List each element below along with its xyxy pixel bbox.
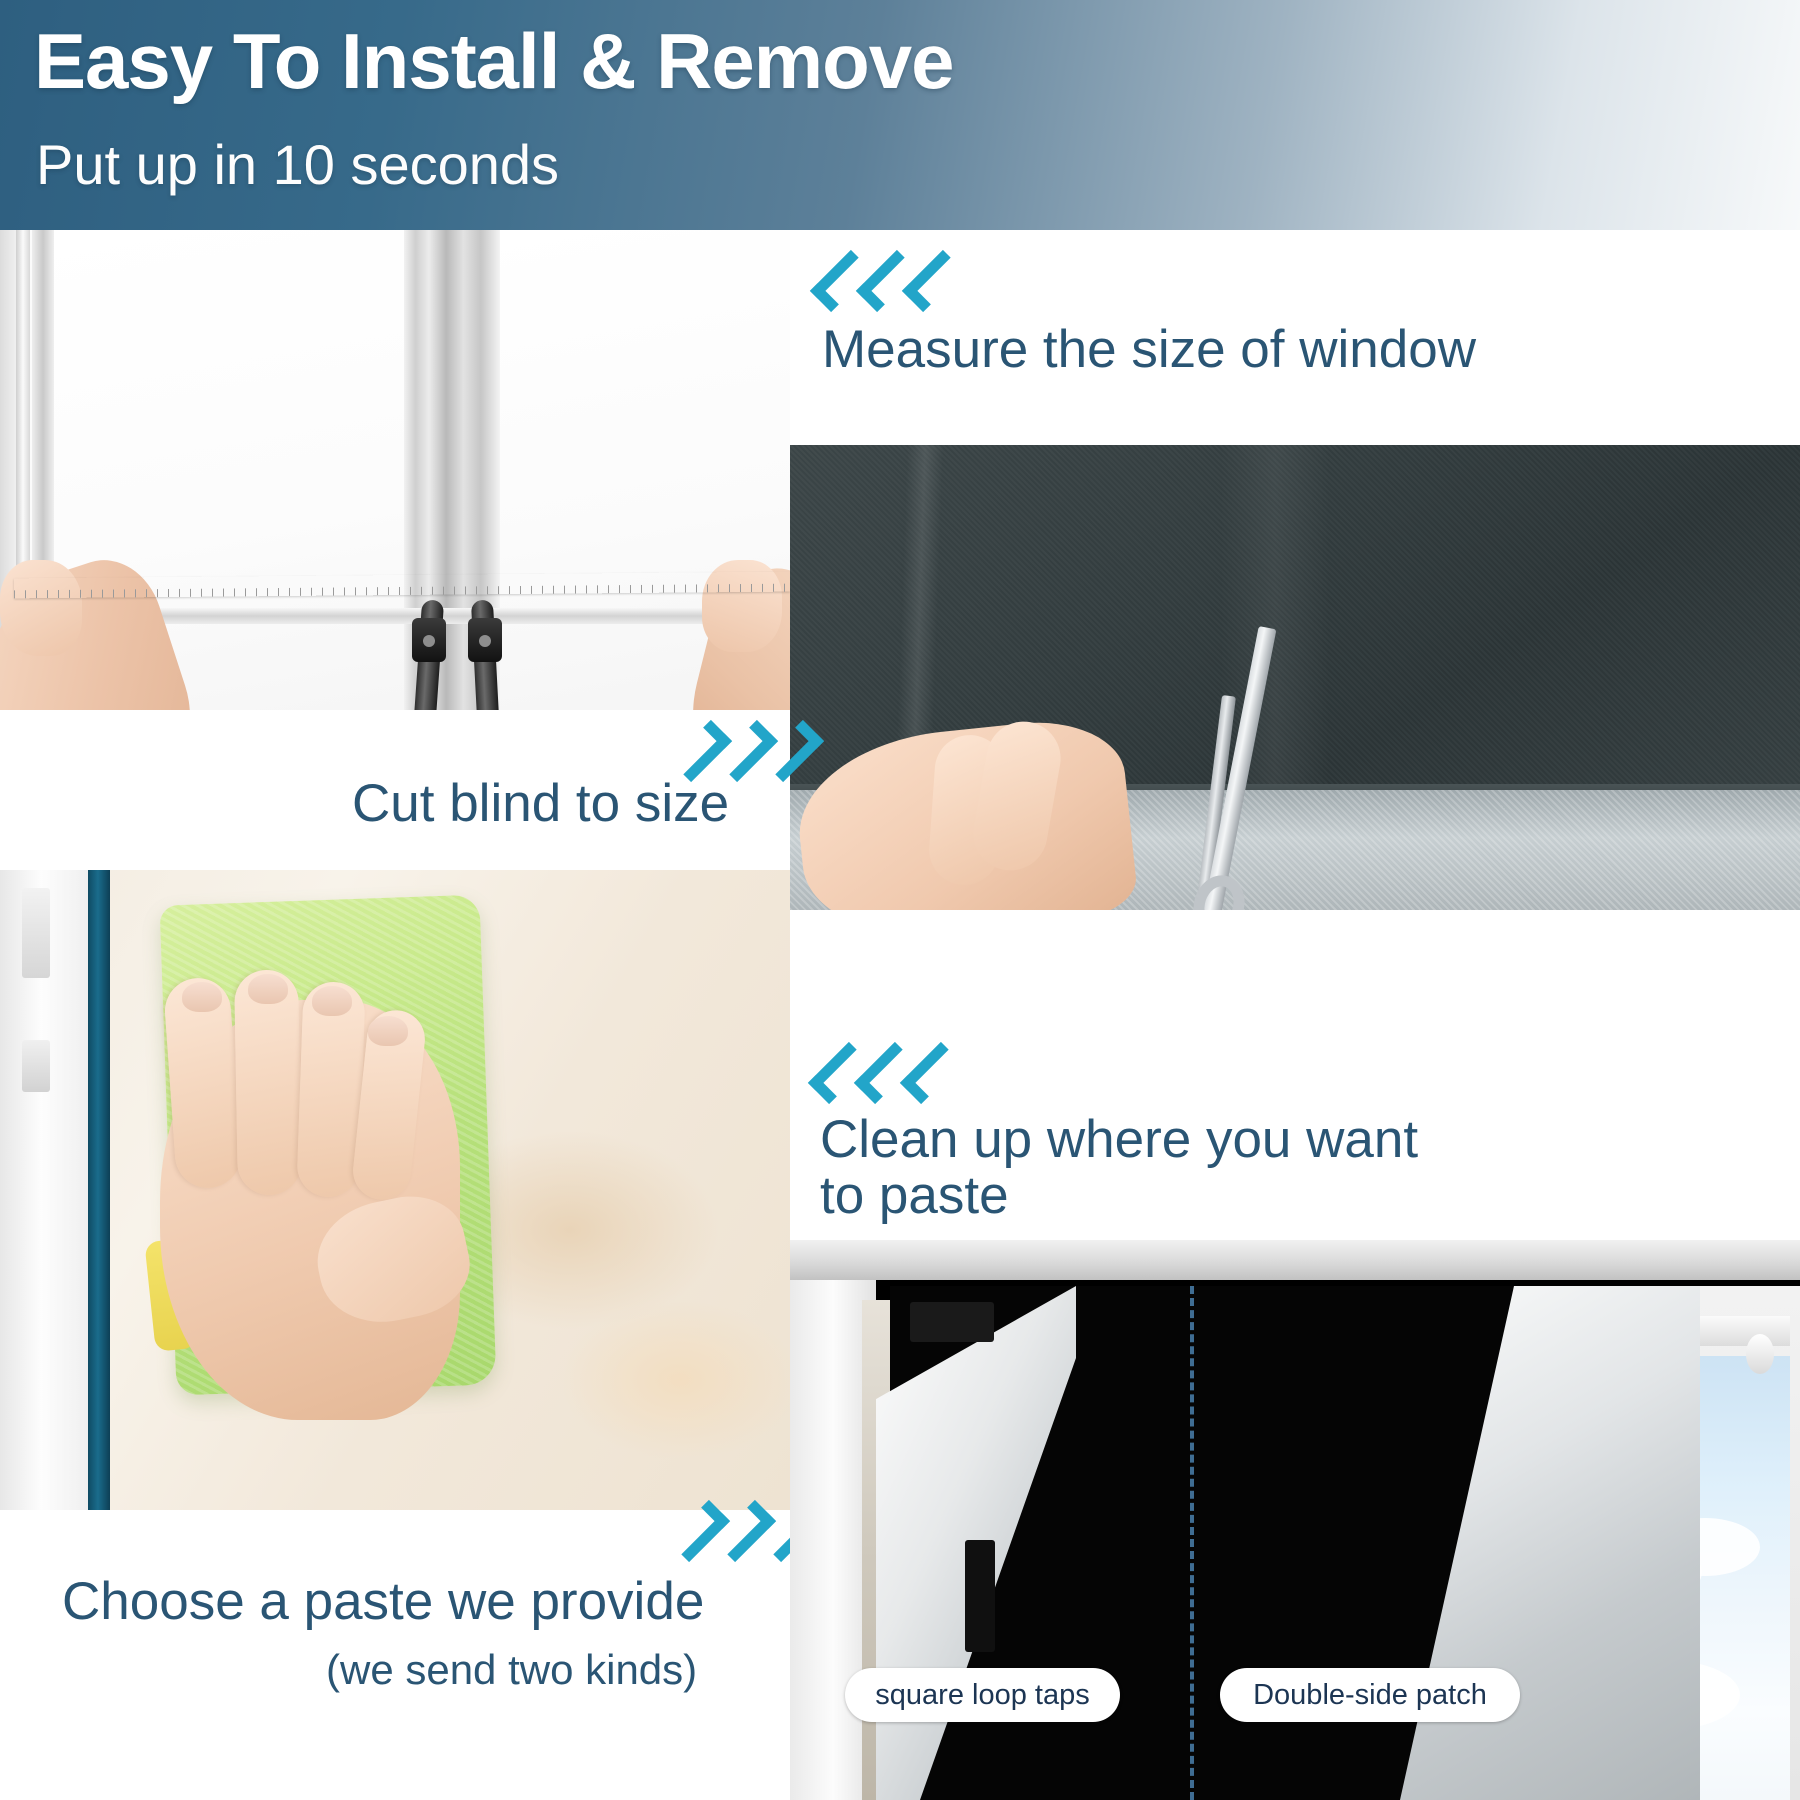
chevron-right-icon [724,718,770,784]
chevron-left-icon [864,248,910,314]
hand-wiping-window-with-green-cloth-photo [0,870,790,1510]
chevron-left-group-measure [818,248,956,314]
frame-sash-upper [22,888,50,978]
handle-hole-left [423,635,435,647]
step-caption-choose-paste: Choose a paste we provide [62,1574,704,1630]
window-knob [1746,1334,1774,1374]
step-caption-measure: Measure the size of window [822,322,1476,378]
infographic-page: Easy To Install & Remove Put up in 10 se… [0,0,1800,1800]
fingernail [182,982,222,1012]
chevron-left-group-clean [816,1040,954,1106]
step-caption-cut: Cut blind to size [352,776,729,832]
window-tape-measure-photo [0,230,790,710]
fingernail [312,986,352,1016]
double-side-patch-sample [965,1540,995,1652]
chevron-right-icon [676,1498,722,1564]
window-top-trim [790,1240,1800,1280]
chevron-left-icon [910,248,956,314]
paste-option-label-square-loop-taps: square loop taps [845,1668,1120,1722]
frame-sash-lower [22,1040,50,1092]
square-loop-tap-sample [910,1302,994,1342]
chevron-left-icon [862,1040,908,1106]
page-subtitle: Put up in 10 seconds [36,132,559,197]
step-caption-choose-paste-note: (we send two kinds) [326,1648,697,1693]
blue-frame-strip [88,870,110,1510]
center-divider-dashed-line [1190,1286,1194,1800]
fingernail [248,974,288,1004]
background-blur [560,1300,790,1460]
header-banner: Easy To Install & Remove Put up in 10 se… [0,0,1800,230]
handle-hole-right [479,635,491,647]
blind-installed-on-window-photo: square loop taps Double-side patch [790,1240,1800,1800]
paste-option-label-double-side-patch: Double-side patch [1220,1668,1520,1722]
chevron-left-icon [816,1040,862,1106]
fingernail [368,1016,408,1046]
chevron-right-icon [770,718,816,784]
step-caption-clean: Clean up where you want to paste [820,1112,1418,1224]
scissors-cutting-blackout-fabric-photo [790,445,1800,910]
chevron-left-icon [818,248,864,314]
left-hand [0,560,82,656]
page-title: Easy To Install & Remove [34,16,954,107]
chevron-right-icon [722,1498,768,1564]
chevron-left-icon [908,1040,954,1106]
